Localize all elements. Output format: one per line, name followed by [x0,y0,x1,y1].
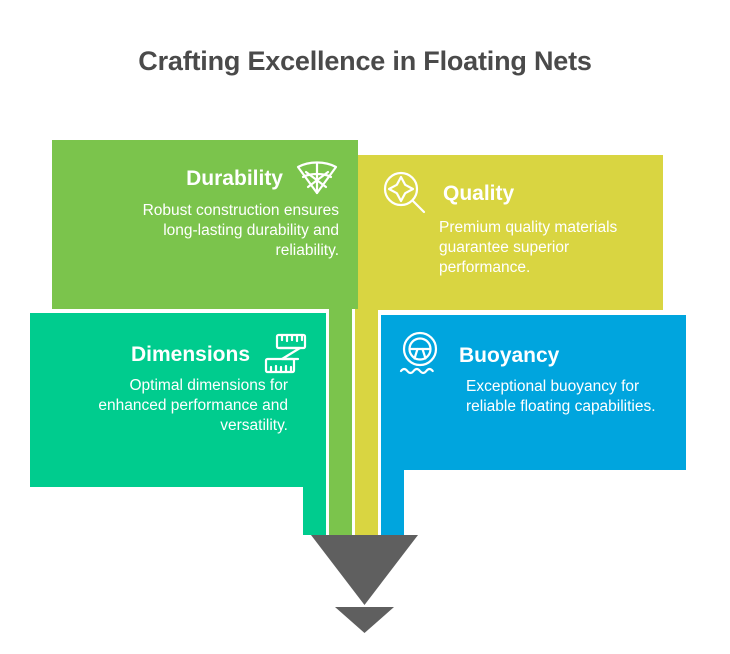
card-buoyancy-header: Buoyancy [395,330,559,380]
card-durability-header: Durability [186,158,339,198]
card-durability-body: Robust construction ensures long-lasting… [139,201,339,261]
card-buoyancy-title: Buoyancy [459,345,559,366]
card-buoyancy-body: Exceptional buoyancy for reliable floati… [466,377,666,417]
down-arrow-funnel [311,535,418,605]
card-quality-header: Quality [381,169,514,217]
card-quality[interactable]: Quality Premium quality materials guaran… [363,155,663,310]
card-quality-body: Premium quality materials guarantee supe… [439,218,654,278]
infographic-canvas: Crafting Excellence in Floating Nets Dur… [0,0,730,654]
card-dimensions-header: Dimensions [131,331,308,377]
measuring-tape-icon [262,331,308,377]
card-dimensions-title: Dimensions [131,344,250,365]
magnifier-sparkle-icon [381,169,429,217]
card-buoyancy[interactable]: Buoyancy Exceptional buoyancy for reliab… [381,315,686,470]
card-durability-title: Durability [186,168,283,189]
card-dimensions[interactable]: Dimensions Optimal dimensions for enhanc… [30,313,326,487]
card-durability[interactable]: Durability Robust construction ensures l… [52,140,358,309]
net-fan-icon [295,158,339,198]
buoy-waves-icon [395,330,445,380]
page-title: Crafting Excellence in Floating Nets [0,46,730,77]
down-arrow-tip [335,607,394,633]
card-quality-title: Quality [443,183,514,204]
card-dimensions-body: Optimal dimensions for enhanced performa… [96,376,288,436]
